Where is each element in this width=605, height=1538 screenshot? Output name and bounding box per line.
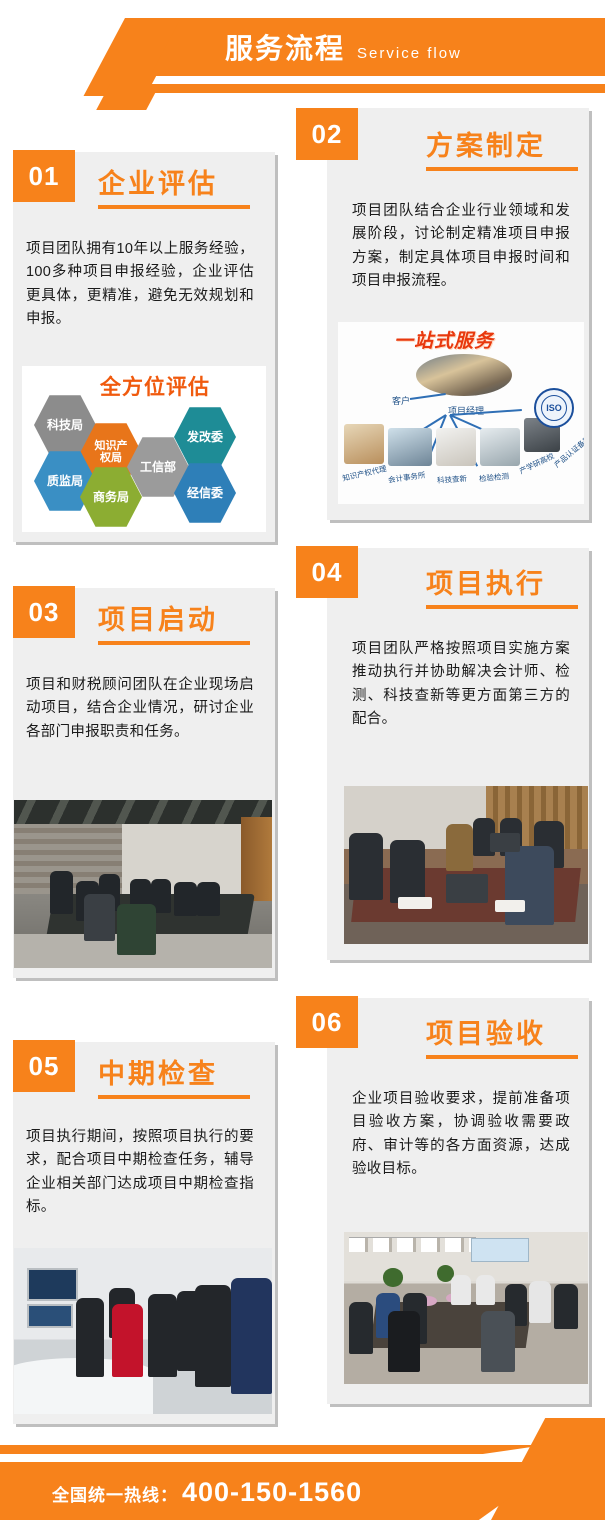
person (554, 1284, 578, 1330)
step-title-rule-04 (426, 605, 578, 609)
photo-content (14, 1248, 272, 1414)
footer-band-thin (0, 1445, 545, 1454)
person (349, 1302, 373, 1354)
service-node-photo (436, 428, 476, 466)
step-title-rule-03 (98, 641, 250, 645)
step-title-02: 方案制定 (426, 124, 546, 163)
person (117, 904, 156, 954)
photo-content (344, 786, 588, 944)
conference-room-photo (14, 800, 272, 968)
person (481, 1311, 515, 1372)
step-body-05: 项目执行期间，按照项目执行的要求，配合项目中期检查任务，辅导企业相关部门达成项目… (26, 1126, 254, 1220)
hexagon-node-label: 质监局 (47, 475, 83, 488)
step-title-03: 项目启动 (98, 598, 218, 637)
service-node-label: 科技查新 (437, 473, 468, 486)
step-title-05: 中期检查 (98, 1052, 218, 1091)
laptop (490, 833, 519, 852)
step-badge-04: 04 (296, 546, 358, 598)
page-subtitle: Service flow (357, 45, 462, 62)
step-title-06: 项目验收 (426, 1012, 546, 1051)
laptop (446, 874, 487, 902)
hexagon-node-label: 知识产权局 (91, 441, 131, 464)
person (476, 1275, 496, 1305)
person (390, 840, 424, 903)
person (50, 871, 73, 915)
step-body-03: 项目和财税顾问团队在企业现场启动项目，结合企业情况，研讨企业各部门申报职责和任务… (26, 674, 254, 744)
person (529, 1281, 551, 1324)
step-title-rule-01 (98, 205, 250, 209)
service-node-label: 检验检测 (479, 470, 510, 484)
person (231, 1278, 272, 1394)
step-body-04: 项目团队严格按照项目实施方案推动执行并协助解决会计师、检测、科技查新等更方面第三… (352, 638, 570, 732)
one-stop-service-title: 一站式服务 (394, 326, 494, 353)
step-body-06: 企业项目验收要求，提前准备项目验收方案，协调验收需要政府、审计等的各方面资源，达… (352, 1088, 570, 1182)
document (398, 897, 432, 910)
step-body-01: 项目团队拥有10年以上服务经验，100多种项目申报经验，企业评估更具体，更精准，… (26, 238, 254, 332)
step-badge-03: 03 (13, 586, 75, 638)
showroom-visit-photo (14, 1248, 272, 1414)
certificate-frames (349, 1237, 476, 1252)
step-title-04: 项目执行 (426, 562, 546, 601)
header-band-thin (150, 84, 605, 93)
service-node-photo (388, 428, 432, 466)
step-body-02: 项目团队结合企业行业领域和发展阶段，讨论制定精准项目申报方案，制定具体项目申报时… (352, 200, 570, 294)
person (349, 833, 383, 899)
service-node-label: 产学研高校 (517, 450, 556, 476)
step-badge-02: 02 (296, 108, 358, 160)
person (451, 1275, 471, 1305)
step-title-rule-02 (426, 167, 578, 171)
hexagon-chart: 全方位评估 科技局 知识产权局 发改委 质监局 工信部 经信委 商务局 (22, 366, 266, 532)
person (112, 1304, 143, 1377)
step-title-rule-05 (98, 1095, 250, 1099)
hexagon-node-label: 科技局 (47, 419, 83, 432)
document (495, 900, 524, 913)
service-node-label: 会计事务所 (387, 469, 426, 485)
person (388, 1311, 420, 1372)
service-node-photo (344, 424, 384, 464)
hexagon-chart-title: 全方位评估 (100, 371, 210, 401)
acceptance-meeting-photo (344, 1232, 588, 1384)
display-screen (27, 1304, 73, 1327)
service-node-label: 知识产权代理 (341, 463, 387, 484)
hexagon-node-label: 工信部 (140, 461, 176, 474)
projector-screen (471, 1238, 530, 1262)
one-stop-service-hero-photo (416, 354, 512, 396)
hotline-group: 全国统一热线： 400-150-1560 (52, 1477, 362, 1508)
one-stop-service-diagram: 一站式服务 客户 项目经理 ISO 知识产权代理 会计事务所 科技查新 检验检测… (338, 322, 584, 504)
page-title: 服务流程 (225, 26, 345, 72)
photo-content (14, 800, 272, 968)
photo-content (344, 1232, 588, 1384)
service-node-photo (480, 428, 520, 466)
certification-seal-icon: ISO (534, 388, 574, 428)
person (76, 1298, 104, 1378)
hexagon-node-label: 经信委 (187, 487, 223, 500)
hexagon-node-label: 发改委 (187, 431, 223, 444)
step-badge-01: 01 (13, 150, 75, 202)
step-badge-06: 06 (296, 996, 358, 1048)
step-badge-05: 05 (13, 1040, 75, 1092)
flow-arrow (410, 393, 446, 400)
hotline-number[interactable]: 400-150-1560 (182, 1477, 362, 1508)
hexagon-node-label: 商务局 (93, 491, 129, 504)
seal-inner-text: ISO (541, 395, 567, 421)
person (84, 894, 115, 941)
wood-panel (241, 817, 272, 901)
display-screen (27, 1268, 79, 1301)
working-meeting-photo (344, 786, 588, 944)
header-title-group: 服务流程 Service flow (225, 26, 462, 72)
infographic-page: 服务流程 Service flow 01 企业评估 项目团队拥有10年以上服务经… (0, 0, 605, 1538)
person (148, 1294, 176, 1377)
hotline-label: 全国统一热线： (52, 1481, 178, 1506)
page-footer: 全国统一热线： 400-150-1560 (0, 1418, 605, 1538)
step-title-01: 企业评估 (98, 162, 218, 201)
person (195, 1285, 231, 1388)
person (197, 882, 220, 916)
person (174, 882, 197, 916)
page-header: 服务流程 Service flow (0, 0, 605, 108)
step-title-rule-06 (426, 1055, 578, 1059)
one-stop-service-client-label: 客户 (392, 394, 410, 407)
plant (383, 1268, 403, 1286)
person (505, 846, 554, 925)
person (446, 824, 473, 871)
